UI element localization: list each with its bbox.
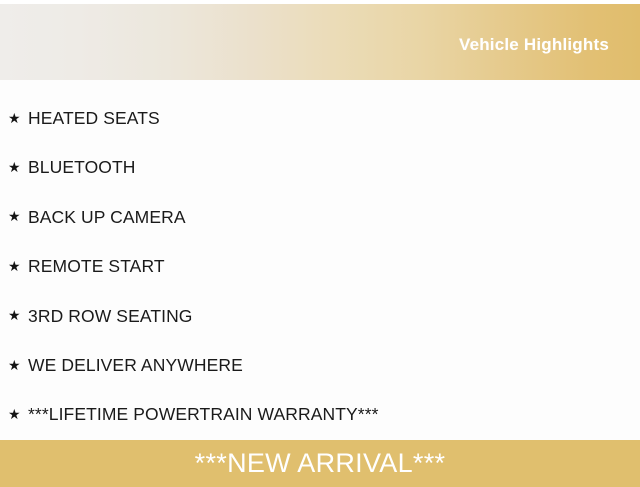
star-bullet-icon: ★ <box>8 111 28 127</box>
highlight-label: BACK UP CAMERA <box>28 208 186 227</box>
star-bullet-icon: ★ <box>8 358 28 374</box>
highlight-label: ***LIFETIME POWERTRAIN WARRANTY*** <box>28 405 379 424</box>
list-item: ★ WE DELIVER ANYWHERE <box>0 341 640 390</box>
header-band: Vehicle Highlights <box>0 4 640 80</box>
list-item: ★ BLUETOOTH <box>0 143 640 192</box>
list-item: ★ 3RD ROW SEATING <box>0 292 640 341</box>
banner-text: ***NEW ARRIVAL*** <box>195 450 446 477</box>
page-title: Vehicle Highlights <box>459 29 640 55</box>
list-item: ★ REMOTE START <box>0 242 640 291</box>
highlight-label: 3RD ROW SEATING <box>28 307 193 326</box>
highlight-label: WE DELIVER ANYWHERE <box>28 356 243 375</box>
star-bullet-icon: ★ <box>8 259 28 275</box>
vehicle-highlights-card: Vehicle Highlights ★ HEATED SEATS ★ BLUE… <box>0 0 640 480</box>
list-item: ★ ***LIFETIME POWERTRAIN WARRANTY*** <box>0 390 640 439</box>
star-bullet-icon: ★ <box>8 407 28 423</box>
highlight-label: REMOTE START <box>28 257 165 276</box>
highlights-list: ★ HEATED SEATS ★ BLUETOOTH ★ BACK UP CAM… <box>0 80 640 440</box>
list-item: ★ BACK UP CAMERA <box>0 193 640 242</box>
star-bullet-icon: ★ <box>8 209 28 225</box>
highlight-label: HEATED SEATS <box>28 109 160 128</box>
highlight-label: BLUETOOTH <box>28 158 136 177</box>
list-item: ★ HEATED SEATS <box>0 94 640 143</box>
star-bullet-icon: ★ <box>8 160 28 176</box>
star-bullet-icon: ★ <box>8 308 28 324</box>
